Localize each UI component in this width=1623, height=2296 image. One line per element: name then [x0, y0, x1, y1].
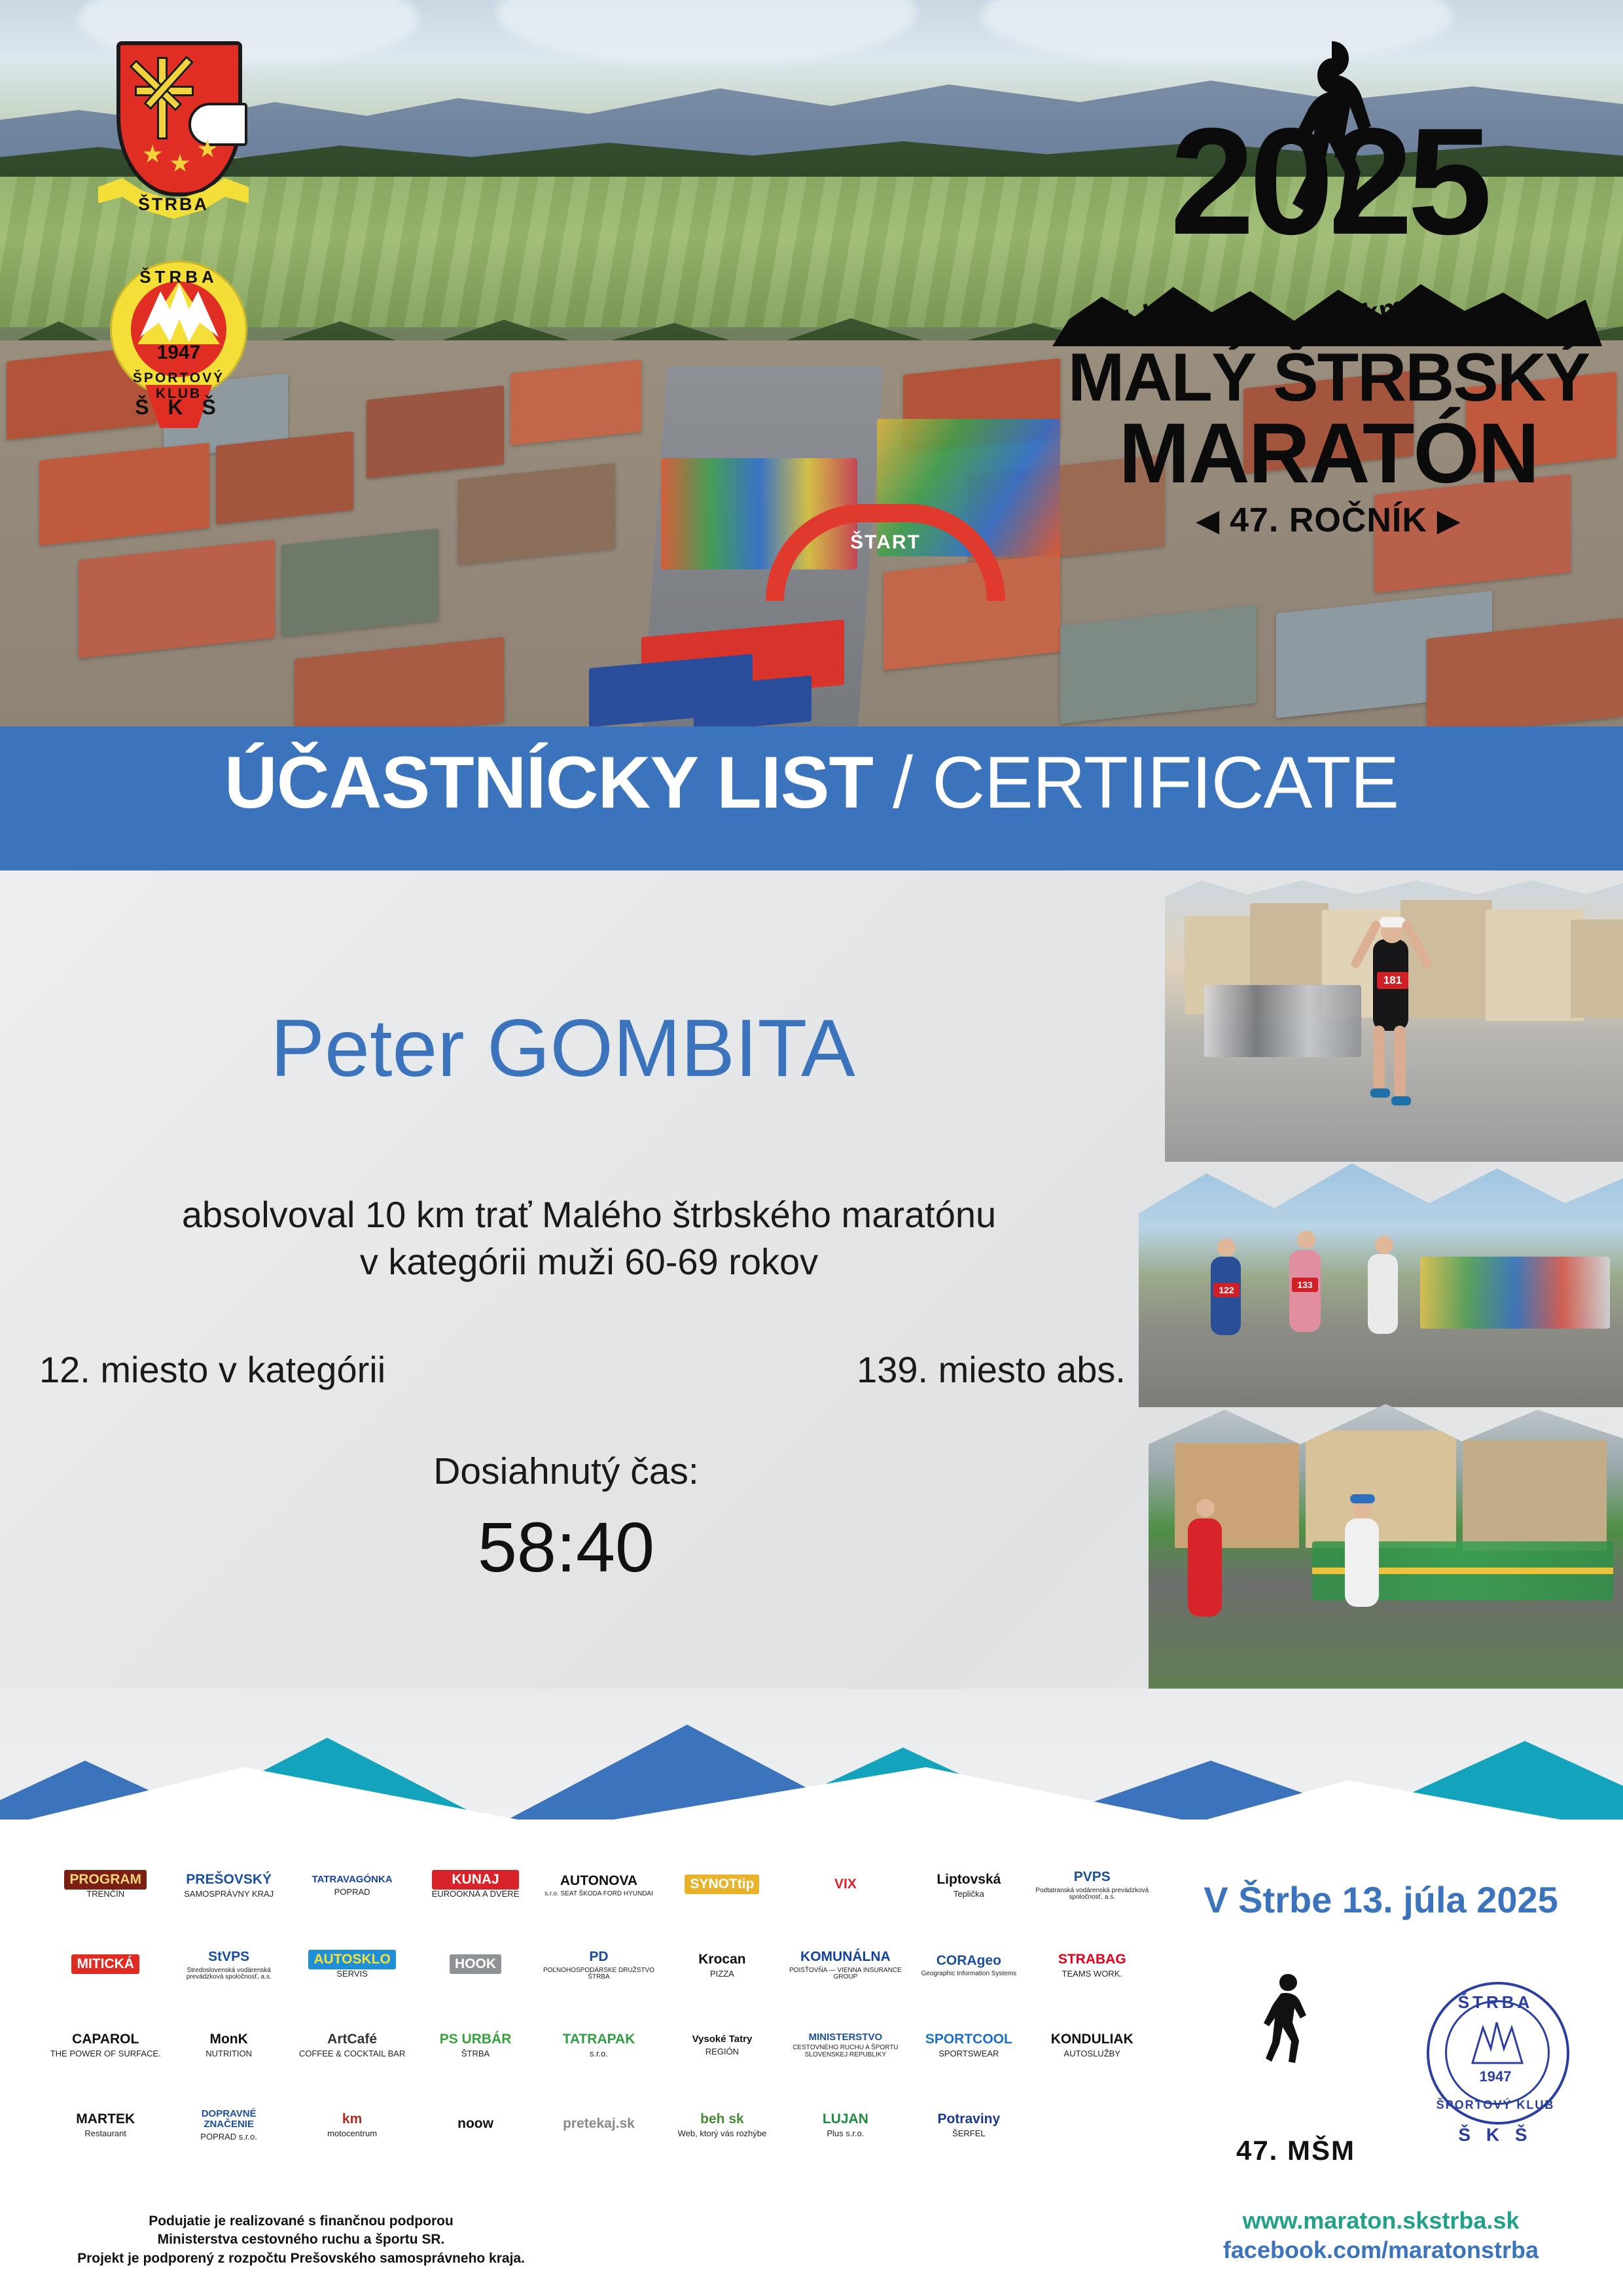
sponsor-mark: beh sk — [678, 2109, 767, 2129]
sponsor-tagline: ŠTRBA — [435, 2049, 517, 2058]
sponsor-mark: TATRAPAK — [558, 2030, 641, 2049]
sponsor-logo: LUJANPlus s.r.o. — [817, 2109, 874, 2138]
crest-name: ŠTRBA — [98, 194, 249, 215]
sponsor-tagline: ŠERFEL — [932, 2129, 1005, 2138]
msm-edition-text: 47. MŠM — [1230, 2135, 1361, 2166]
shield-shape — [116, 41, 242, 196]
sponsor-mark: LUJAN — [817, 2109, 874, 2129]
sponsor-logo: TATRAPAKs.r.o. — [558, 2030, 641, 2058]
place-in-category: 12. miesto v kategórii — [39, 1348, 385, 1391]
sponsor-logo: HOOK — [450, 1954, 501, 1974]
facebook-link[interactable]: facebook.com/maratonstrba — [1158, 2235, 1603, 2265]
banner-title-sk: ÚČASTNÍCKY LIST — [224, 742, 873, 823]
sponsor-mark: MonK — [204, 2030, 253, 2049]
sponsor-logo: DOPRAVNÉ ZNAČENIEPOPRAD s.r.o. — [170, 2106, 288, 2141]
sponsor-mark: noow — [452, 2114, 499, 2134]
sponsor-tagline: Restaurant — [71, 2129, 140, 2138]
sponsor-tagline: POISŤOVŇA — VIENNA INSURANCE GROUP — [787, 1967, 904, 1981]
description-line-1: absolvoval 10 km trať Malého štrbského m… — [0, 1191, 1178, 1238]
sponsor-logo: VIX — [829, 1874, 862, 1894]
sponsor-mark: SYNOTtip — [685, 1874, 759, 1894]
sponsor-logo: PotravinyŠERFEL — [932, 2109, 1005, 2138]
race-name-line1: MALÝ ŠTRBSKÝ — [1041, 344, 1616, 412]
sports-club-logo: ŠTRBA 1947 ŠPORTOVÝ KLUB Š K Š — [97, 255, 260, 425]
website-link[interactable]: www.maraton.skstrba.sk — [1158, 2206, 1603, 2235]
sponsor-tagline: motocentrum — [327, 2129, 377, 2138]
race-title-lockup: 2025 31 km 10 km MALÝ ŠTRBSKÝ MARATÓN ◀ … — [1041, 36, 1616, 625]
sponsor-tagline: Web, ktorý vás rozhýbe — [678, 2129, 767, 2138]
sponsor-logo: MARTEKRestaurant — [71, 2109, 140, 2138]
runner-silhouette-icon — [1273, 36, 1391, 317]
sponsor-logo: pretekaj.sk — [558, 2114, 640, 2134]
race-name-line2: MARATÓN — [1041, 410, 1616, 495]
sponsor-mark: STRABAG — [1053, 1950, 1132, 1969]
sponsor-tagline: EUROOKNÁ A DVERE — [432, 1890, 520, 1899]
participant-name: Peter GOMBITA — [0, 1008, 1126, 1089]
triangle-right-icon: ▶ — [1437, 504, 1460, 537]
sponsor-mark: PREŠOVSKÝ — [181, 1870, 277, 1890]
sponsor-logo: noow — [452, 2114, 499, 2134]
hero-photo: ŠTART ŠTRBA Š — [0, 0, 1623, 726]
triangle-left-icon: ◀ — [1197, 504, 1220, 537]
sponsor-logo: PVPSPodtatranská vodárenská prevádzková … — [1033, 1867, 1151, 1901]
sponsor-logo: AUTONOVAs.r.o. SEAT ŠKODA FORD HYUNDAI — [544, 1871, 653, 1898]
sponsor-logo: STRABAGTEAMS WORK. — [1053, 1950, 1132, 1979]
photo-finish-line — [1149, 1404, 1623, 1692]
sponsor-mark: PS URBÁR — [435, 2030, 517, 2049]
photo-runners-group: 122 133 — [1139, 1158, 1623, 1407]
sponsor-mark: Krocan — [693, 1950, 751, 1969]
sponsor-mark: SPORTCOOL — [920, 2030, 1018, 2049]
stamp-year: 1947 — [1414, 2068, 1577, 2085]
banner-title-separator: / — [873, 742, 932, 823]
club-abbr: Š K Š — [110, 395, 247, 420]
sponsor-mark: pretekaj.sk — [558, 2114, 640, 2134]
sponsor-mark: PVPS — [1033, 1867, 1151, 1887]
sponsor-logo: KrocanPIZZA — [693, 1950, 751, 1979]
sponsor-mark: CORAgeo — [921, 1951, 1017, 1971]
sponsor-tagline: COFFEE & COCKTAIL BAR — [299, 2049, 406, 2058]
sponsor-tagline: POPRAD s.r.o. — [170, 2132, 288, 2142]
sponsor-tagline: TEAMS WORK. — [1053, 1969, 1132, 1979]
sponsor-mark: PD — [540, 1947, 658, 1967]
description: absolvoval 10 km trať Malého štrbského m… — [0, 1191, 1178, 1285]
sponsor-logo: CORAgeoGeographic Information Systems — [921, 1951, 1017, 1978]
sponsor-mark: Vysoké Tatry — [687, 2032, 758, 2047]
start-arch-label: ŠTART — [850, 531, 921, 554]
sponsor-tagline: PIZZA — [693, 1969, 751, 1979]
sponsor-mark: MARTEK — [71, 2109, 140, 2129]
sponsor-tagline: Stredoslovenská vodárenská prevádzková s… — [170, 1967, 288, 1981]
arm-holding-cross — [188, 103, 247, 146]
placements: 12. miesto v kategórii 139. miesto abs. — [39, 1348, 1126, 1391]
sponsor-logo: LiptovskáTeplička — [931, 1870, 1006, 1899]
sponsor-tagline: POPRAD — [307, 1888, 398, 1897]
photo-finisher-arms-up: 181 — [1165, 880, 1623, 1162]
mountain-peaks-icon — [1467, 2017, 1526, 2070]
sponsor-logo-grid: PROGRAMTRENČÍNPREŠOVSKÝSAMOSPRÁVNY KRAJT… — [46, 1846, 1152, 2162]
runner-silhouette-icon — [1250, 1970, 1329, 2101]
stamp-abbr: Š K Š — [1414, 2125, 1577, 2145]
stamp-top-text: ŠTRBA — [1414, 1992, 1577, 2013]
sponsor-logo: CAPAROLTHE POWER OF SURFACE. — [50, 2030, 161, 2058]
strba-coat-of-arms: ŠTRBA — [98, 29, 249, 245]
sponsor-mark: MITICKÁ — [71, 1954, 139, 1974]
race-edition-label: 47. ROČNÍK — [1230, 501, 1427, 539]
banner-title: ÚČASTNÍCKY LIST / CERTIFICATE — [0, 746, 1623, 819]
sponsor-logo: TATRAVAGÓNKAPOPRAD — [307, 1872, 398, 1896]
sponsor-tagline: TRENČÍN — [64, 1890, 147, 1899]
photo-collage: 181 122 133 — [1113, 880, 1623, 1692]
sponsor-mark: km — [327, 2109, 377, 2129]
sponsor-mark: HOOK — [450, 1954, 501, 1974]
club-stamp: ŠTRBA 1947 ŠPORTOVÝ KLUB Š K Š — [1414, 1970, 1577, 2166]
description-line-2: v kategórii muži 60-69 rokov — [0, 1238, 1178, 1285]
finish-time-value: 58:40 — [0, 1512, 1132, 1583]
sponsor-logo: MonKNUTRITION — [204, 2030, 253, 2058]
notice-line-2: Ministerstva cestovného ruchu a športu S… — [39, 2231, 563, 2249]
sponsor-logo: beh skWeb, ktorý vás rozhýbe — [678, 2109, 767, 2138]
sponsor-logo: PDPOĽNOHOSPODÁRSKE DRUŽSTVO ŠTRBA — [540, 1947, 658, 1981]
sponsor-logo: ArtCaféCOFFEE & COCKTAIL BAR — [299, 2030, 406, 2058]
sponsor-mark: Liptovská — [931, 1870, 1006, 1890]
sponsor-tagline: s.r.o. SEAT ŠKODA FORD HYUNDAI — [544, 1891, 653, 1898]
sponsor-tagline: POĽNOHOSPODÁRSKE DRUŽSTVO ŠTRBA — [540, 1967, 658, 1981]
sponsor-tagline: Plus s.r.o. — [817, 2129, 874, 2138]
sponsor-mark: KUNAJ — [432, 1870, 520, 1890]
sponsor-tagline: THE POWER OF SURFACE. — [50, 2049, 161, 2058]
race-edition: ◀ 47. ROČNÍK ▶ — [1041, 501, 1616, 540]
club-year: 1947 — [131, 342, 226, 364]
sponsor-tagline: AUTOSLUŽBY — [1046, 2049, 1139, 2058]
sponsor-logo: StVPSStredoslovenská vodárenská prevádzk… — [170, 1947, 288, 1981]
sponsor-logo: KOMUNÁLNAPOISŤOVŇA — VIENNA INSURANCE GR… — [787, 1947, 904, 1981]
sponsor-logo: PREŠOVSKÝSAMOSPRÁVNY KRAJ — [181, 1870, 277, 1899]
sponsor-mark: MINISTERSTVO — [787, 2030, 904, 2045]
sponsor-mark: PROGRAM — [64, 1870, 147, 1890]
sponsor-logo: PS URBÁRŠTRBA — [435, 2030, 517, 2058]
sponsor-tagline: Geographic Information Systems — [921, 1971, 1017, 1978]
sponsor-mark: AUTONOVA — [544, 1871, 653, 1891]
sponsor-section: V Štrbe 13. júla 2025 PROGRAMTRENČÍNPREŠ… — [0, 1820, 1623, 2296]
sponsor-logo: Vysoké TatryREGIÓN — [687, 2032, 758, 2056]
finish-time-label: Dosiahnutý čas: — [0, 1450, 1132, 1493]
sponsor-mark: TATRAVAGÓNKA — [307, 1872, 398, 1888]
sponsor-tagline: REGIÓN — [687, 2047, 758, 2056]
sponsor-tagline: SPORTSWEAR — [920, 2049, 1018, 2058]
sponsor-logo: MINISTERSTVOCESTOVNÉHO RUCHU A ŠPORTU SL… — [787, 2030, 904, 2059]
sponsor-tagline: NUTRITION — [204, 2049, 253, 2058]
sponsor-mark: StVPS — [170, 1947, 288, 1967]
sponsor-mark: AUTOSKLO — [308, 1950, 395, 1969]
msm-logo: 47. MŠM — [1230, 1970, 1361, 2166]
sponsor-logo: PROGRAMTRENČÍN — [64, 1870, 147, 1899]
contact-links: www.maraton.skstrba.sk facebook.com/mara… — [1158, 2206, 1603, 2265]
sponsor-mark: Potraviny — [932, 2109, 1005, 2129]
sponsor-logo: kmmotocentrum — [327, 2109, 377, 2138]
sponsor-logo: SYNOTtip — [685, 1874, 759, 1894]
sponsor-mark: DOPRAVNÉ ZNAČENIE — [170, 2106, 288, 2132]
sponsor-tagline: Teplička — [931, 1890, 1006, 1899]
notice-line-3: Projekt je podporený z rozpočtu Prešovsk… — [39, 2250, 563, 2268]
event-date: V Štrbe 13. júla 2025 — [1171, 1878, 1590, 1921]
certificate-page: ŠTART ŠTRBA Š — [0, 0, 1623, 2296]
sponsor-mark: KOMUNÁLNA — [787, 1947, 904, 1967]
sponsor-tagline: SAMOSPRÁVNY KRAJ — [181, 1890, 277, 1899]
sponsor-tagline: SERVIS — [308, 1969, 395, 1979]
sponsor-tagline: CESTOVNÉHO RUCHU A ŠPORTU SLOVENSKEJ REP… — [787, 2045, 904, 2058]
club-arc-top: ŠTRBA — [110, 267, 247, 287]
sponsor-mark: VIX — [829, 1874, 862, 1894]
stamp-bottom-text: ŠPORTOVÝ KLUB — [1414, 2098, 1577, 2112]
banner-title-en: CERTIFICATE — [932, 742, 1399, 823]
sponsor-logo: KONDULIAKAUTOSLUŽBY — [1046, 2030, 1139, 2058]
sponsor-logo: SPORTCOOLSPORTSWEAR — [920, 2030, 1018, 2058]
sponsor-mark: ArtCafé — [299, 2030, 406, 2049]
place-absolute: 139. miesto abs. — [857, 1348, 1126, 1391]
sponsor-logo: KUNAJEUROOKNÁ A DVERE — [432, 1870, 520, 1899]
sponsor-mark: CAPAROL — [50, 2030, 161, 2049]
funding-notice: Podujatie je realizované s finančnou pod… — [39, 2212, 563, 2268]
bib-number: 181 — [1377, 972, 1408, 989]
sponsor-logo: AUTOSKLOSERVIS — [308, 1950, 395, 1979]
sponsor-logo: MITICKÁ — [71, 1954, 139, 1974]
notice-line-1: Podujatie je realizované s finančnou pod… — [39, 2212, 563, 2231]
sponsor-mark: KONDULIAK — [1046, 2030, 1139, 2049]
sponsor-tagline: Podtatranská vodárenská prevádzková spol… — [1033, 1888, 1151, 1901]
sponsor-tagline: s.r.o. — [558, 2049, 641, 2058]
